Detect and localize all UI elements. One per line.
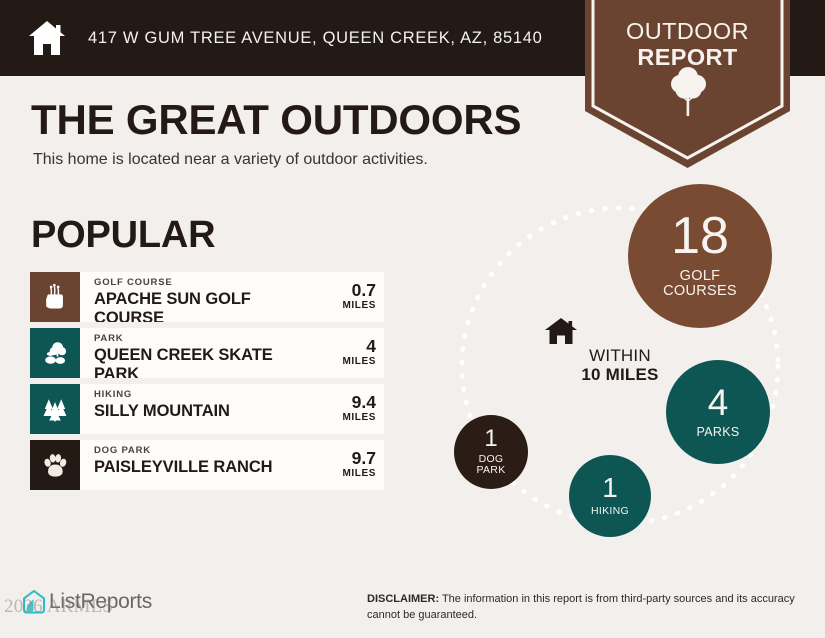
list-item-category: PARK xyxy=(94,334,302,344)
list-item-name: PAISLEYVILLE RANCH xyxy=(94,458,302,477)
section-title-popular: POPULAR xyxy=(31,214,215,257)
page-title: THE GREAT OUTDOORS xyxy=(31,96,521,144)
distance-value: 0.7 xyxy=(302,281,376,299)
list-item[interactable]: PARK QUEEN CREEK SKATE PARK 4 MILES xyxy=(30,328,384,378)
list-item[interactable]: GOLF COURSE APACHE SUN GOLF COURSE 0.7 M… xyxy=(30,272,384,322)
outdoor-amenities-diagram: 18 GOLF COURSES 4 PARKS 1 HIKING 1 DOG P… xyxy=(420,176,820,551)
distance-value: 9.4 xyxy=(302,393,376,411)
distance-unit: MILES xyxy=(302,356,376,368)
list-item-text: HIKING SILLY MOUNTAIN xyxy=(80,384,302,434)
house-icon xyxy=(26,17,68,59)
distance-unit: MILES xyxy=(302,412,376,424)
bubble-label: PARKS xyxy=(697,426,740,440)
list-item-name: QUEEN CREEK SKATE PARK xyxy=(94,346,302,378)
list-item-name: APACHE SUN GOLF COURSE xyxy=(94,290,302,322)
bubble-count: 4 xyxy=(708,385,729,420)
bubble-label: GOLF COURSES xyxy=(663,269,737,300)
center-line2: 10 MILES xyxy=(544,365,696,384)
mls-watermark: 2026 ARMLS xyxy=(4,596,113,618)
list-item-category: DOG PARK xyxy=(94,446,302,456)
disclaimer-label: DISCLAIMER: xyxy=(367,593,439,605)
bubble-hiking: 1 HIKING xyxy=(569,455,651,537)
distance-value: 4 xyxy=(302,337,376,355)
list-item-distance: 4 MILES xyxy=(302,328,384,378)
list-item-name: SILLY MOUNTAIN xyxy=(94,402,302,421)
golf-bag-icon xyxy=(30,272,80,322)
bubble-label-line2: PARK xyxy=(476,465,505,476)
pine-trees-icon xyxy=(30,384,80,434)
center-line1: WITHIN xyxy=(544,346,696,365)
bubble-count: 18 xyxy=(671,212,729,261)
list-item[interactable]: DOG PARK PAISLEYVILLE RANCH 9.7 MILES xyxy=(30,440,384,490)
list-item-distance: 0.7 MILES xyxy=(302,272,384,322)
bubble-count: 1 xyxy=(602,475,618,502)
distance-value: 9.7 xyxy=(302,449,376,467)
list-item-text: GOLF COURSE APACHE SUN GOLF COURSE xyxy=(80,272,302,322)
list-item-category: HIKING xyxy=(94,390,302,400)
bubble-label: DOG PARK xyxy=(476,454,505,477)
disclaimer: DISCLAIMER: The information in this repo… xyxy=(367,592,797,623)
bubble-label-line2: COURSES xyxy=(663,284,737,300)
list-item-category: GOLF COURSE xyxy=(94,278,302,288)
list-item-text: DOG PARK PAISLEYVILLE RANCH xyxy=(80,440,302,490)
paw-print-icon xyxy=(30,440,80,490)
bubble-dog-park: 1 DOG PARK xyxy=(454,415,528,489)
bubble-count: 1 xyxy=(484,428,497,451)
list-item-distance: 9.4 MILES xyxy=(302,384,384,434)
popular-places-list: GOLF COURSE APACHE SUN GOLF COURSE 0.7 M… xyxy=(30,272,384,496)
list-item-distance: 9.7 MILES xyxy=(302,440,384,490)
tree-icon xyxy=(666,66,710,118)
list-item-text: PARK QUEEN CREEK SKATE PARK xyxy=(80,328,302,378)
bubble-label-line1: GOLF xyxy=(663,269,737,285)
property-address: 417 W GUM TREE AVENUE, QUEEN CREEK, AZ, … xyxy=(88,29,543,48)
bubble-golf-courses: 18 GOLF COURSES xyxy=(628,184,772,328)
distance-unit: MILES xyxy=(302,300,376,312)
house-icon xyxy=(544,316,696,346)
page-subtitle: This home is located near a variety of o… xyxy=(33,151,428,169)
park-tree-icon xyxy=(30,328,80,378)
distance-unit: MILES xyxy=(302,468,376,480)
bubble-label: HIKING xyxy=(591,506,629,517)
outdoor-report-badge: OUTDOOR REPORT xyxy=(585,0,790,168)
diagram-center-label: WITHIN 10 MILES xyxy=(544,316,696,384)
list-item[interactable]: HIKING SILLY MOUNTAIN 9.4 MILES xyxy=(30,384,384,434)
